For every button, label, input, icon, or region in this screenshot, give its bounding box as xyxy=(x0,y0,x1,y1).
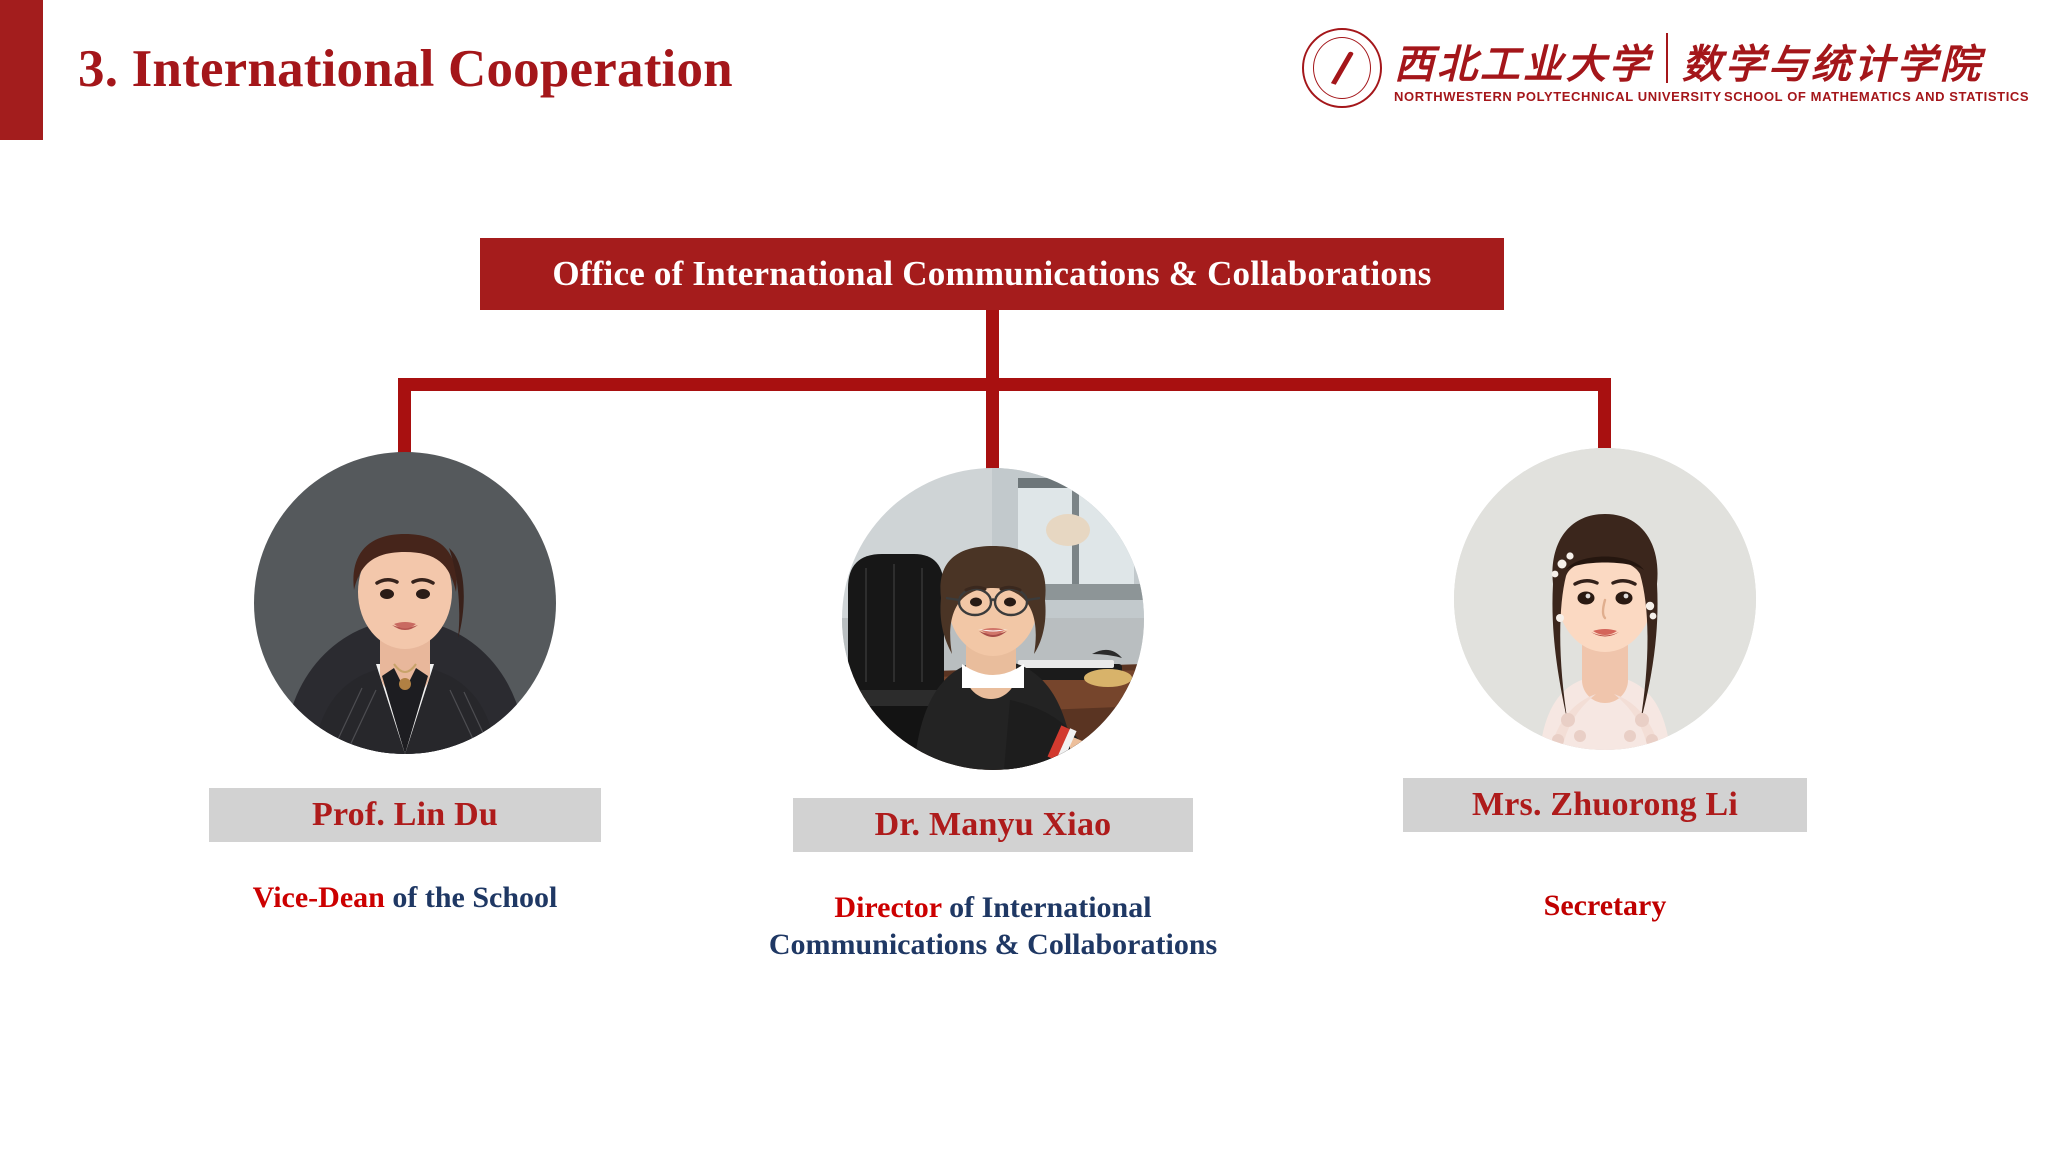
logo-university-en: NORTHWESTERN POLYTECHNICAL UNIVERSITY xyxy=(1394,90,1694,103)
member-role: Director of International Communications… xyxy=(758,890,1228,963)
member-role-highlight: Vice-Dean xyxy=(253,881,385,914)
connector-drop-middle xyxy=(986,391,999,476)
org-root-banner: Office of International Communications &… xyxy=(480,238,1504,310)
member-name: Dr. Manyu Xiao xyxy=(875,806,1112,844)
title-accent-bar xyxy=(0,0,43,140)
org-member-card: Prof. Lin Du Vice-Dean of the School xyxy=(190,452,620,917)
member-role: Vice-Dean of the School xyxy=(190,880,620,917)
logo-divider xyxy=(1666,33,1668,83)
university-logo: 西北工业大学 数学与统计学院 NORTHWESTERN POLYTECHNICA… xyxy=(1302,26,2024,110)
connector-stem xyxy=(986,310,999,378)
logo-text-group: 西北工业大学 数学与统计学院 NORTHWESTERN POLYTECHNICA… xyxy=(1394,33,2024,103)
member-role-highlight: Secretary xyxy=(1544,889,1667,922)
member-role-highlight: Director xyxy=(834,891,941,924)
page-title: 3. International Cooperation xyxy=(78,42,733,98)
member-name-plate: Dr. Manyu Xiao xyxy=(793,798,1193,852)
org-member-card: Mrs. Zhuorong Li Secretary xyxy=(1390,448,1820,925)
logo-school-cn: 数学与统计学院 xyxy=(1682,45,1983,85)
member-name: Mrs. Zhuorong Li xyxy=(1472,786,1738,824)
slide-canvas: 3. International Cooperation 西北工业大学 数学与统… xyxy=(0,0,2048,1152)
org-member-card: Dr. Manyu Xiao Director of International… xyxy=(778,468,1208,963)
member-role: Secretary xyxy=(1390,888,1820,925)
org-root-label: Office of International Communications &… xyxy=(552,254,1431,294)
portrait-lin-du xyxy=(254,452,556,754)
member-name: Prof. Lin Du xyxy=(312,796,498,834)
member-name-plate: Prof. Lin Du xyxy=(209,788,601,842)
logo-english-row: NORTHWESTERN POLYTECHNICAL UNIVERSITY SC… xyxy=(1394,90,2024,103)
member-name-plate: Mrs. Zhuorong Li xyxy=(1403,778,1807,832)
logo-university-cn: 西北工业大学 xyxy=(1394,45,1652,85)
logo-chinese-row: 西北工业大学 数学与统计学院 xyxy=(1394,33,2024,85)
university-seal-icon xyxy=(1302,28,1382,108)
connector-horizontal xyxy=(398,378,1611,391)
logo-school-en: SCHOOL OF MATHEMATICS AND STATISTICS xyxy=(1724,90,2024,103)
portrait-manyu-xiao xyxy=(842,468,1144,770)
portrait-zhuorong-li xyxy=(1454,448,1756,750)
member-role-rest: of the School xyxy=(385,881,558,914)
